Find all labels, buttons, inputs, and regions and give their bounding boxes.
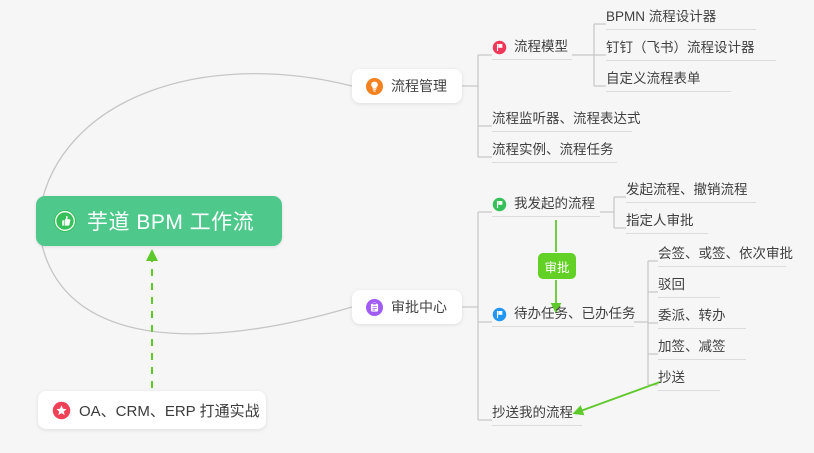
branch-label-approval-center: 审批中心 <box>391 297 447 317</box>
leaf-label-assignee-approval: 指定人审批 <box>626 213 694 229</box>
leaf-label-process-instance-task: 流程实例、流程任务 <box>492 142 614 158</box>
branch-node-approval-center[interactable]: 审批中心 <box>352 290 462 324</box>
leaf-label-process-model: 流程模型 <box>514 39 568 55</box>
leaf-delegate-transfer[interactable]: 委派、转办 <box>658 308 746 329</box>
leaf-label-dingtalk-feishu-designer: 钉钉（飞书）流程设计器 <box>606 40 755 56</box>
thumbs-up-icon <box>53 209 77 233</box>
lightbulb-icon <box>366 78 383 95</box>
leaf-bpmn-designer[interactable]: BPMN 流程设计器 <box>606 9 756 30</box>
leaf-label-cc-to-me-processes: 抄送我的流程 <box>492 405 573 421</box>
leaf-process-instance-task[interactable]: 流程实例、流程任务 <box>492 142 617 163</box>
leaf-label-my-started-processes: 我发起的流程 <box>514 196 595 212</box>
flag-icon <box>492 197 507 212</box>
link-root-to-process-management <box>40 74 352 210</box>
leaf-label-reject: 驳回 <box>658 277 685 293</box>
star-icon <box>52 401 71 420</box>
leaf-dingtalk-feishu-designer[interactable]: 钉钉（飞书）流程设计器 <box>606 40 776 61</box>
approve-tag-label: 审批 <box>544 257 569 276</box>
clipboard-icon <box>366 299 383 316</box>
leaf-label-countersign-or-sequential: 会签、或签、依次审批 <box>658 246 793 262</box>
approve-tag[interactable]: 审批 <box>538 253 576 279</box>
leaf-my-started-processes[interactable]: 我发起的流程 <box>492 196 600 217</box>
leaf-label-process-listener-expression: 流程监听器、流程表达式 <box>492 111 641 127</box>
leaf-process-model[interactable]: 流程模型 <box>492 39 572 60</box>
root-label: 芋道 BPM 工作流 <box>87 206 254 236</box>
leaf-add-remove-sign[interactable]: 加签、减签 <box>658 339 746 360</box>
mindmap-canvas: 芋道 BPM 工作流 流程管理 审批中心 <box>0 0 814 453</box>
flag-icon <box>492 40 507 55</box>
leaf-custom-process-form[interactable]: 自定义流程表单 <box>606 71 731 92</box>
leaf-cc[interactable]: 抄送 <box>658 370 720 391</box>
leaf-label-cc: 抄送 <box>658 370 685 386</box>
leaf-assignee-approval[interactable]: 指定人审批 <box>626 213 708 234</box>
leaf-cc-to-me-processes[interactable]: 抄送我的流程 <box>492 405 582 426</box>
branch-label-process-management: 流程管理 <box>391 76 447 96</box>
leaf-label-todo-done-tasks: 待办任务、已办任务 <box>514 306 636 322</box>
note-label-oa-crm-erp: OA、CRM、ERP 打通实战 <box>79 400 260 421</box>
leaf-label-delegate-transfer: 委派、转办 <box>658 308 726 324</box>
branch-node-process-management[interactable]: 流程管理 <box>352 69 462 103</box>
leaf-label-add-remove-sign: 加签、减签 <box>658 339 726 355</box>
leaf-countersign-or-sequential[interactable]: 会签、或签、依次审批 <box>658 246 786 267</box>
leaf-label-start-cancel-process: 发起流程、撤销流程 <box>626 182 748 198</box>
leaf-start-cancel-process[interactable]: 发起流程、撤销流程 <box>626 182 756 203</box>
leaf-label-custom-process-form: 自定义流程表单 <box>606 71 701 87</box>
arrow-cc-to-my-cc <box>575 382 660 413</box>
note-node-oa-crm-erp[interactable]: OA、CRM、ERP 打通实战 <box>38 391 266 429</box>
leaf-reject[interactable]: 驳回 <box>658 277 720 298</box>
flag-icon <box>492 307 507 322</box>
leaf-label-bpmn-designer: BPMN 流程设计器 <box>606 9 716 25</box>
link-root-to-approval-center <box>40 236 352 334</box>
leaf-process-listener-expression[interactable]: 流程监听器、流程表达式 <box>492 111 632 132</box>
root-node[interactable]: 芋道 BPM 工作流 <box>36 196 282 246</box>
leaf-todo-done-tasks[interactable]: 待办任务、已办任务 <box>492 306 634 327</box>
